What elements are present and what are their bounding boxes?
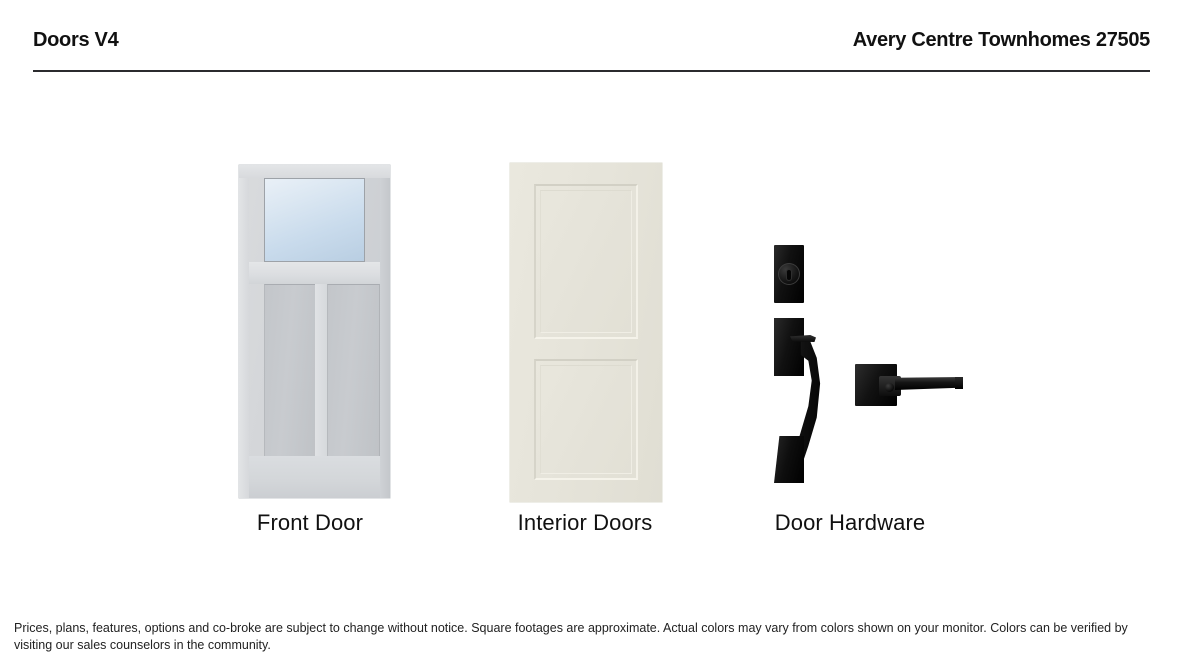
hardware-group	[700, 140, 1000, 495]
gallery-item-door-hardware[interactable]: Door Hardware	[700, 140, 1000, 560]
lever-bar-end-cap	[955, 377, 963, 389]
page-title: Doors V4	[33, 28, 118, 52]
handleset-top-escutcheon	[774, 318, 804, 376]
front-door-slab	[239, 165, 390, 498]
front-door-panel-left	[264, 284, 317, 457]
gallery-item-front-door[interactable]: Front Door	[160, 140, 460, 560]
door-hardware-caption: Door Hardware	[700, 510, 1000, 536]
interior-door-panel-bottom	[534, 359, 638, 480]
lever-bar	[895, 377, 963, 390]
front-door-left-stile	[239, 165, 249, 498]
community-name: Avery Centre Townhomes 27505	[853, 28, 1150, 52]
disclaimer-text: Prices, plans, features, options and co-…	[14, 620, 1154, 654]
front-door-right-stile	[380, 165, 390, 498]
page-header: Doors V4 Avery Centre Townhomes 27505	[33, 28, 1150, 70]
lever-keyhole	[885, 383, 894, 392]
front-door-middle-rail	[249, 262, 380, 284]
front-door-image	[160, 140, 460, 495]
handleset-icon	[770, 318, 830, 483]
gallery-item-interior-doors[interactable]: Interior Doors	[435, 140, 735, 560]
deadbolt-keyway	[787, 270, 791, 280]
front-door-panel-right	[327, 284, 380, 457]
lever-handle-icon	[855, 358, 965, 413]
door-hardware-image	[700, 140, 1000, 495]
front-door-caption: Front Door	[160, 510, 460, 536]
deadbolt-icon	[774, 245, 804, 303]
interior-door-image	[435, 140, 735, 495]
front-door-bottom-rail	[249, 456, 380, 498]
interior-door-slab	[510, 163, 662, 502]
front-door-center-muntin	[315, 284, 327, 456]
header-divider	[33, 70, 1150, 72]
product-gallery: Front Door Interior Doors	[0, 140, 1182, 560]
front-door-glass-frame	[264, 178, 365, 262]
interior-door-panel-top	[534, 184, 638, 339]
interior-doors-caption: Interior Doors	[435, 510, 735, 536]
front-door-glass-lite	[265, 179, 364, 261]
handleset-bottom-escutcheon	[774, 436, 804, 483]
front-door-top-rail	[239, 165, 390, 178]
